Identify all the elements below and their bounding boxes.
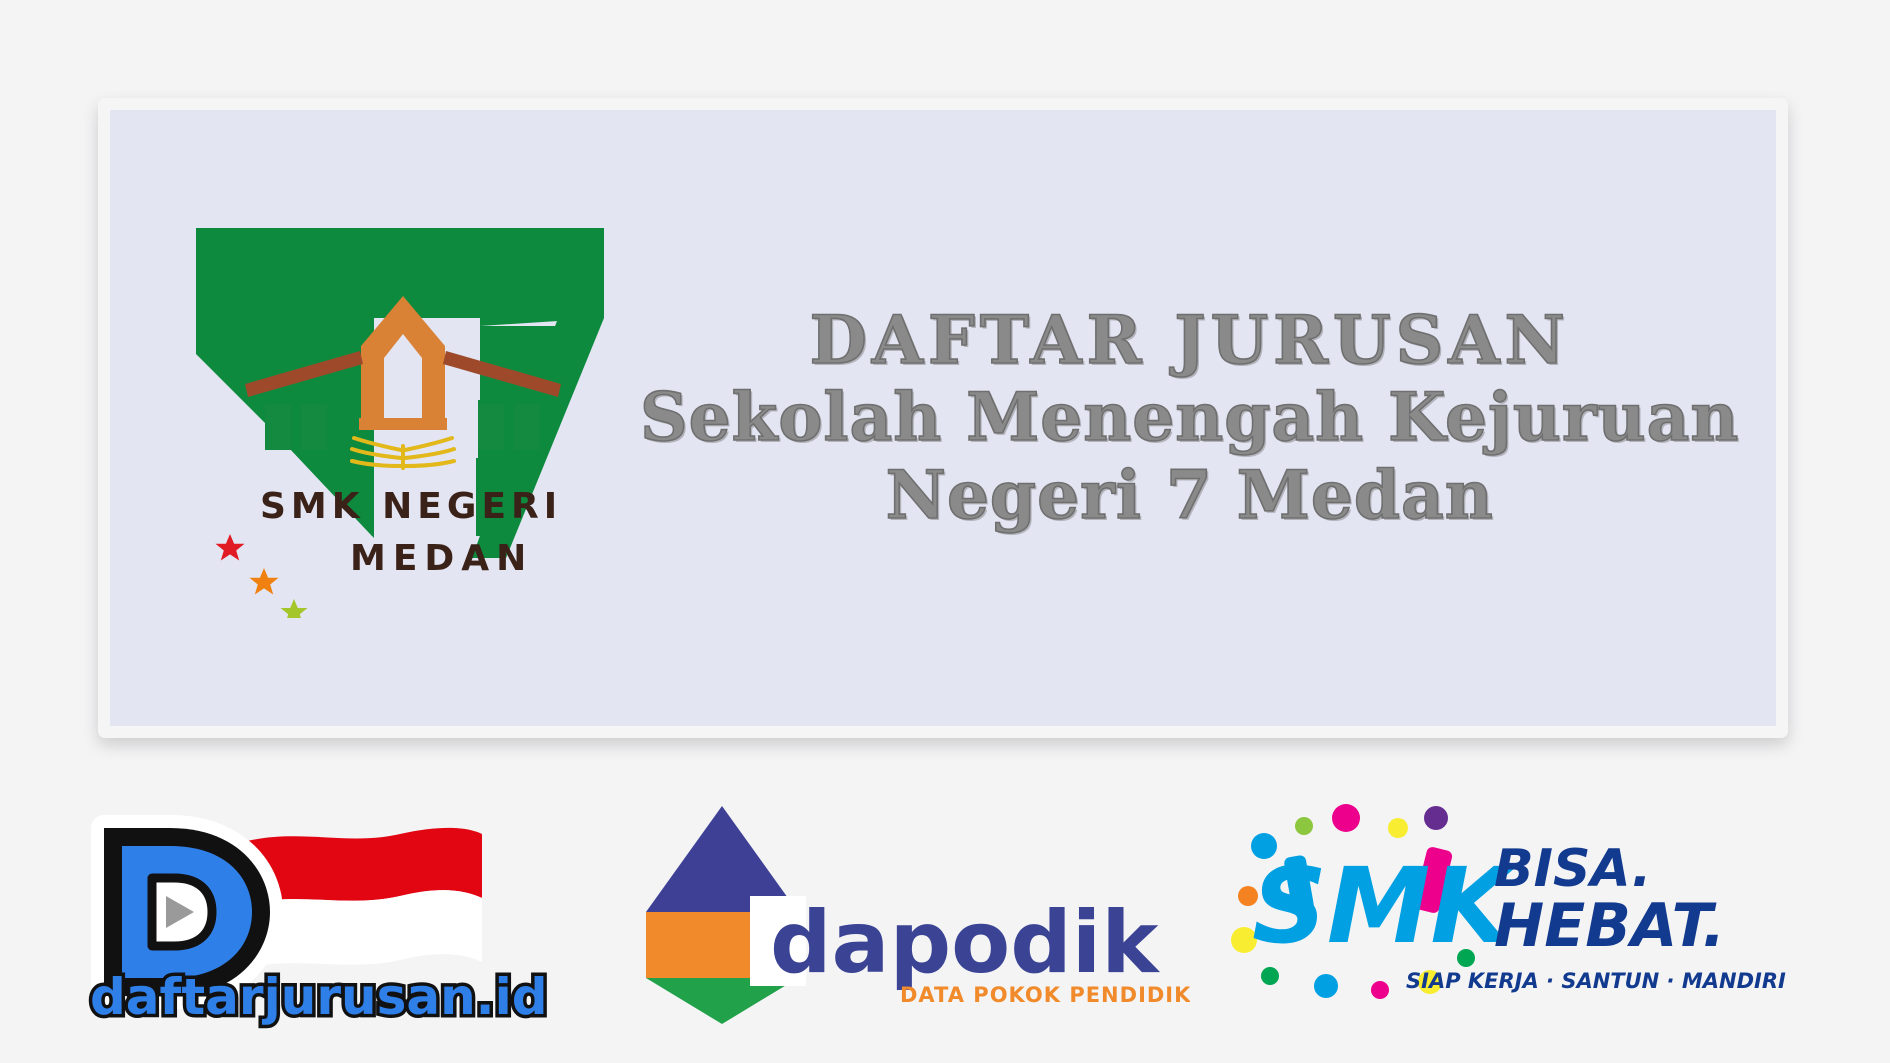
footer-logo-row: daftarjurusan.id dapodik DATA POKOK PEND…: [0, 790, 1890, 1040]
smk-mark-text: SMK: [1252, 845, 1518, 967]
dapodik-graphic: dapodik DATA POKOK PENDIDIKAN: [630, 800, 1190, 1030]
window-4: [514, 404, 540, 450]
dapodik-logo[interactable]: dapodik DATA POKOK PENDIDIKAN: [630, 800, 1190, 1030]
smk-bisa-hebat-logo[interactable]: SMK BISA. HEBAT. SIAP KERJA · SANTUN · M…: [1230, 800, 1790, 1030]
title-line-2: Sekolah Menengah Kejuruan: [640, 382, 1739, 453]
daftarjurusan-id-logo[interactable]: daftarjurusan.id: [70, 800, 570, 1030]
hero-card: SMK NEGERI MEDAN DAFTAR JURUSAN Sekolah …: [98, 98, 1788, 738]
logo-text-line-1: SMK NEGERI: [260, 486, 562, 527]
daftarjurusan-wordmark: daftarjurusan.id: [90, 968, 548, 1026]
smk-line-2: HEBAT.: [1494, 891, 1725, 961]
dapodik-wordmark: dapodik: [770, 893, 1160, 993]
window-1: [265, 404, 291, 450]
school-logo-detail: SMK NEGERI MEDAN: [160, 218, 640, 618]
smk-tagline: SIAP KERJA · SANTUN · MANDIRI · KREATIF: [1406, 969, 1790, 993]
dapodik-tagline: DATA POKOK PENDIDIKAN: [900, 983, 1190, 1007]
window-3: [478, 404, 504, 450]
title-line-1: DAFTAR JURUSAN: [640, 305, 1739, 376]
hero-title-block: DAFTAR JURUSAN Sekolah Menengah Kejuruan…: [640, 305, 1779, 531]
daftarjurusan-id-graphic: daftarjurusan.id: [70, 800, 570, 1030]
poster-root: SMK NEGERI MEDAN DAFTAR JURUSAN Sekolah …: [0, 0, 1890, 1063]
smk-line-1: BISA.: [1494, 839, 1651, 899]
school-logo: SMK NEGERI MEDAN: [160, 218, 640, 618]
hero-card-inner: SMK NEGERI MEDAN DAFTAR JURUSAN Sekolah …: [110, 110, 1776, 726]
title-line-3: Negeri 7 Medan: [640, 460, 1739, 531]
logo-text-line-2: MEDAN: [350, 538, 533, 579]
smk-bisa-hebat-graphic: SMK BISA. HEBAT. SIAP KERJA · SANTUN · M…: [1230, 800, 1790, 1030]
window-2: [301, 404, 327, 450]
